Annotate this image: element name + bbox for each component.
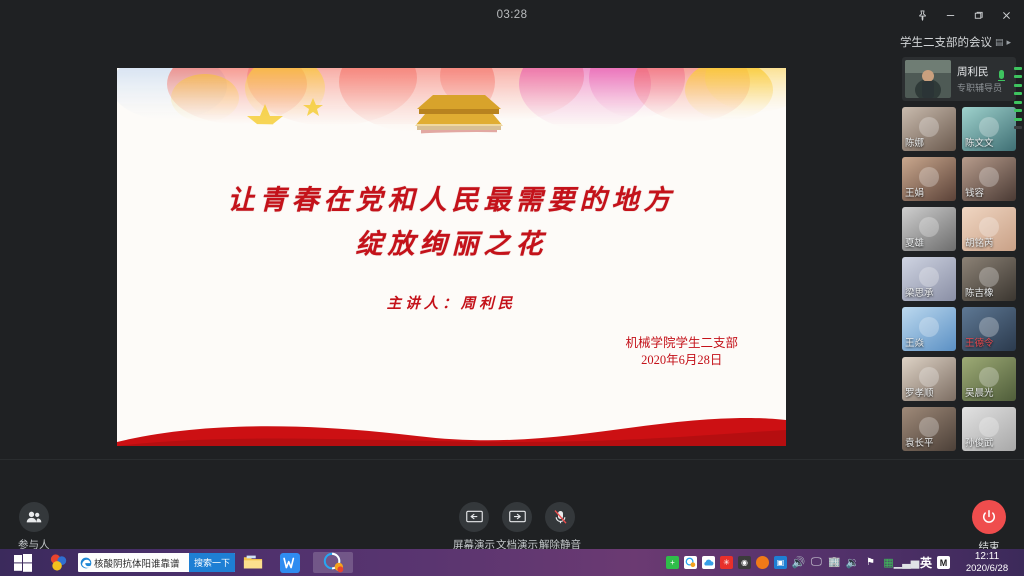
slide-banner-artwork: [117, 68, 786, 188]
system-tray: + ✳ ◉ ▣ 🔊 🖵 🏢 🔉 ⚑ ▦ ▁▃▅ 英 M: [666, 552, 950, 573]
slide-text-block: 让青春在党和人民最需要的地方 绽放绚丽之花 主讲人：周利民: [117, 178, 786, 313]
microphone-icon: [998, 70, 1004, 86]
presentation-stage: 让青春在党和人民最需要的地方 绽放绚丽之花 主讲人：周利民 机械学院学生二支部 …: [10, 53, 892, 459]
document-share-button[interactable]: 文档演示: [496, 502, 538, 552]
participant-tile[interactable]: 钱容: [962, 157, 1016, 201]
active-speaker-role: 专职辅导员: [957, 81, 1002, 94]
search-input[interactable]: 核酸阴抗体阳谁靠谱 搜索一下: [78, 553, 235, 572]
shared-slide[interactable]: 让青春在党和人民最需要的地方 绽放绚丽之花 主讲人：周利民 机械学院学生二支部 …: [117, 68, 786, 446]
pin-button[interactable]: [908, 4, 936, 28]
search-query: 核酸阴抗体阳谁靠谱: [93, 556, 189, 570]
slide-wave-decoration: [117, 402, 786, 446]
people-icon: [19, 502, 49, 532]
participant-name: 钱容: [965, 185, 984, 199]
participant-name: 梁思承: [905, 285, 934, 299]
active-speaker-name: 周利民: [957, 64, 1002, 79]
clock-time: 12:11: [956, 551, 1018, 563]
participant-name: 陈吉橡: [965, 285, 994, 299]
ime-indicator[interactable]: 英: [920, 554, 932, 571]
slide-date: 2020年6月28日: [625, 352, 738, 369]
participant-tile[interactable]: 袁长平: [902, 407, 956, 451]
windows-start-icon[interactable]: [6, 552, 40, 573]
taskbar-clock[interactable]: 12:11 2020/6/28: [956, 551, 1018, 575]
speaker-red-icon[interactable]: 🔊: [792, 556, 805, 569]
screen-share-button[interactable]: 屏幕演示: [453, 502, 495, 552]
antivirus-icon[interactable]: ✳: [720, 556, 733, 569]
window-controls: [908, 0, 1020, 31]
participant-tile[interactable]: 陈吉橡: [962, 257, 1016, 301]
edge-icon: [78, 553, 93, 572]
participant-tile[interactable]: 王焱: [902, 307, 956, 351]
participant-name: 王焱: [905, 335, 924, 349]
screen-share-icon: [459, 502, 489, 532]
avatar: [905, 60, 951, 98]
participant-name: 袁长平: [905, 435, 934, 449]
participant-tile[interactable]: 吴晨光: [962, 357, 1016, 401]
participant-name: 夏雄: [905, 235, 924, 249]
participant-tile[interactable]: 罗孝顺: [902, 357, 956, 401]
clock-date: 2020/6/28: [956, 563, 1018, 575]
participant-name: 罗孝顺: [905, 385, 934, 399]
participant-tile[interactable]: 王德令: [962, 307, 1016, 351]
camera-icon[interactable]: ◉: [738, 556, 751, 569]
active-speaker-card[interactable]: 周利民 专职辅导员: [902, 57, 1016, 101]
participant-tile[interactable]: 胡铭芮: [962, 207, 1016, 251]
participant-name: 孙俊武: [965, 435, 994, 449]
meeting-icon[interactable]: [684, 556, 697, 569]
end-meeting-button[interactable]: 结束: [972, 500, 1006, 554]
tencent-meeting-window: 03:28 100%: [0, 0, 1024, 576]
title-bar: 03:28: [0, 0, 1024, 31]
participant-tile[interactable]: 陈文文: [962, 107, 1016, 151]
participants-panel: 学生二支部的会议 ▤ ▸ 周利民 专职辅导员 陈娜陈文文王娟钱容夏雄胡铭芮梁思承…: [894, 31, 1024, 504]
tencent-meeting-icon[interactable]: [313, 552, 353, 573]
flag-icon[interactable]: ⚑: [864, 556, 877, 569]
building-icon[interactable]: 🏢: [828, 556, 841, 569]
list-icon[interactable]: ▤: [995, 37, 1004, 48]
microphone-muted-icon: [545, 502, 575, 532]
chevron-right-icon[interactable]: ▸: [1007, 37, 1012, 48]
participant-name: 吴晨光: [965, 385, 994, 399]
ime-secondary-icon[interactable]: M: [937, 556, 950, 569]
wps-writer-icon[interactable]: [277, 552, 303, 573]
power-icon: [972, 500, 1006, 534]
windows-taskbar: 核酸阴抗体阳谁靠谱 搜索一下 + ✳ ◉ ▣ 🔊 🖵 🏢: [0, 549, 1024, 576]
slide-title-line-2: 绽放绚丽之花: [117, 222, 786, 266]
unmute-button[interactable]: 解除静音: [539, 502, 581, 552]
slide-credits: 机械学院学生二支部 2020年6月28日: [625, 335, 738, 369]
meeting-title: 学生二支部的会议: [900, 34, 992, 50]
participant-name: 王娟: [905, 185, 924, 199]
participant-grid: 陈娜陈文文王娟钱容夏雄胡铭芮梁思承陈吉橡王焱王德令罗孝顺吴晨光袁长平孙俊武: [902, 107, 1016, 451]
participant-tile[interactable]: 夏雄: [902, 207, 956, 251]
display-icon[interactable]: 🖵: [810, 556, 823, 569]
viewer-toolbar: 100%: [0, 31, 894, 53]
participants-button[interactable]: 参与人: [18, 502, 50, 552]
participant-name: 陈文文: [965, 135, 994, 149]
slide-speaker: 主讲人：周利民: [117, 292, 786, 313]
close-button[interactable]: [992, 4, 1020, 28]
participant-tile[interactable]: 王娟: [902, 157, 956, 201]
participant-tile[interactable]: 陈娜: [902, 107, 956, 151]
participant-tile[interactable]: 孙俊武: [962, 407, 1016, 451]
minimize-button[interactable]: [936, 4, 964, 28]
slide-title-line-1: 让青春在党和人民最需要的地方: [117, 178, 786, 222]
participant-name: 王德令: [965, 335, 994, 349]
search-go-button[interactable]: 搜索一下: [189, 553, 235, 572]
signal-icon[interactable]: ▁▃▅: [900, 556, 913, 569]
audio-level-meter: [1014, 67, 1022, 129]
participant-name: 陈娜: [905, 135, 924, 149]
shield-green-icon[interactable]: +: [666, 556, 679, 569]
sun-icon[interactable]: [756, 556, 769, 569]
participant-tile[interactable]: 梁思承: [902, 257, 956, 301]
maximize-button[interactable]: [964, 4, 992, 28]
panel-header: 学生二支部的会议 ▤ ▸: [894, 31, 1024, 53]
volume-icon[interactable]: 🔉: [846, 556, 859, 569]
file-explorer-icon[interactable]: [240, 552, 266, 573]
meeting-timer: 03:28: [0, 0, 1024, 31]
participant-name: 胡铭芮: [965, 235, 994, 249]
meeting-control-bar: 参与人 屏幕演示 文档演示 解除静音 结束: [0, 459, 1024, 550]
document-share-icon: [502, 502, 532, 532]
monitor-blue-icon[interactable]: ▣: [774, 556, 787, 569]
cloud-icon[interactable]: [702, 556, 715, 569]
slide-org: 机械学院学生二支部: [625, 335, 738, 352]
sogou-input-icon[interactable]: [45, 552, 71, 573]
